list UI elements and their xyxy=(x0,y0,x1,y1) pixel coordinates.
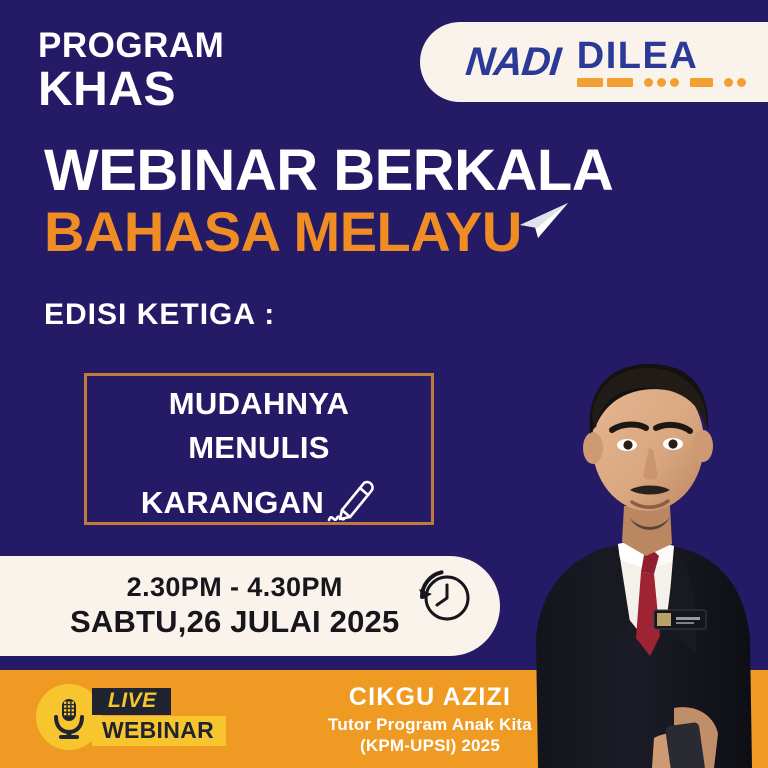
topic-title: MUDAHNYA MENULIS KARANGAN xyxy=(84,382,434,536)
headline-secondary: BAHASA MELAYU xyxy=(44,204,522,260)
logo-bar xyxy=(607,78,633,87)
live-webinar-text: LIVE WEBINAR xyxy=(92,688,226,747)
live-webinar-badge: LIVE WEBINAR xyxy=(36,684,226,750)
headline-primary: WEBINAR BERKALA xyxy=(44,142,734,200)
logo-bar xyxy=(577,78,603,87)
logo-dot xyxy=(644,78,653,87)
logo-dilea-text: DILEA xyxy=(577,37,699,75)
logo-pattern xyxy=(577,78,746,87)
webinar-label: WEBINAR xyxy=(92,716,226,746)
program-label: PROGRAM xyxy=(38,28,224,64)
logo-dilea-group: DILEA xyxy=(577,37,746,87)
topic-line-3: KARANGAN xyxy=(141,481,324,525)
pencil-icon xyxy=(327,472,377,536)
presenter-photo xyxy=(478,238,768,768)
brand-logo: NADI DILEA xyxy=(420,22,768,102)
webinar-poster: PROGRAM KHAS NADI DILEA WEBINAR BERKALA xyxy=(0,0,768,768)
topic-line-2: MENULIS xyxy=(84,426,434,470)
logo-dot xyxy=(737,78,746,87)
topic-line-1: MUDAHNYA xyxy=(84,382,434,426)
logo-dot xyxy=(724,78,733,87)
clock-icon xyxy=(413,565,477,634)
live-label: LIVE xyxy=(92,688,171,715)
schedule-date: SABTU,26 JULAI 2025 xyxy=(70,605,399,640)
topic-line-3-row: KARANGAN xyxy=(141,470,377,536)
schedule-band: 2.30PM - 4.30PM SABTU,26 JULAI 2025 xyxy=(0,556,500,656)
logo-bar xyxy=(690,78,713,87)
schedule-time: 2.30PM - 4.30PM xyxy=(70,572,399,602)
logo-nadi-text: NADI xyxy=(464,40,563,85)
program-heading: PROGRAM KHAS xyxy=(38,28,224,114)
edition-label: EDISI KETIGA : xyxy=(44,298,275,332)
logo-dot xyxy=(670,78,679,87)
program-name: KHAS xyxy=(38,66,224,114)
logo-dot xyxy=(657,78,666,87)
schedule-text: 2.30PM - 4.30PM SABTU,26 JULAI 2025 xyxy=(70,572,399,640)
